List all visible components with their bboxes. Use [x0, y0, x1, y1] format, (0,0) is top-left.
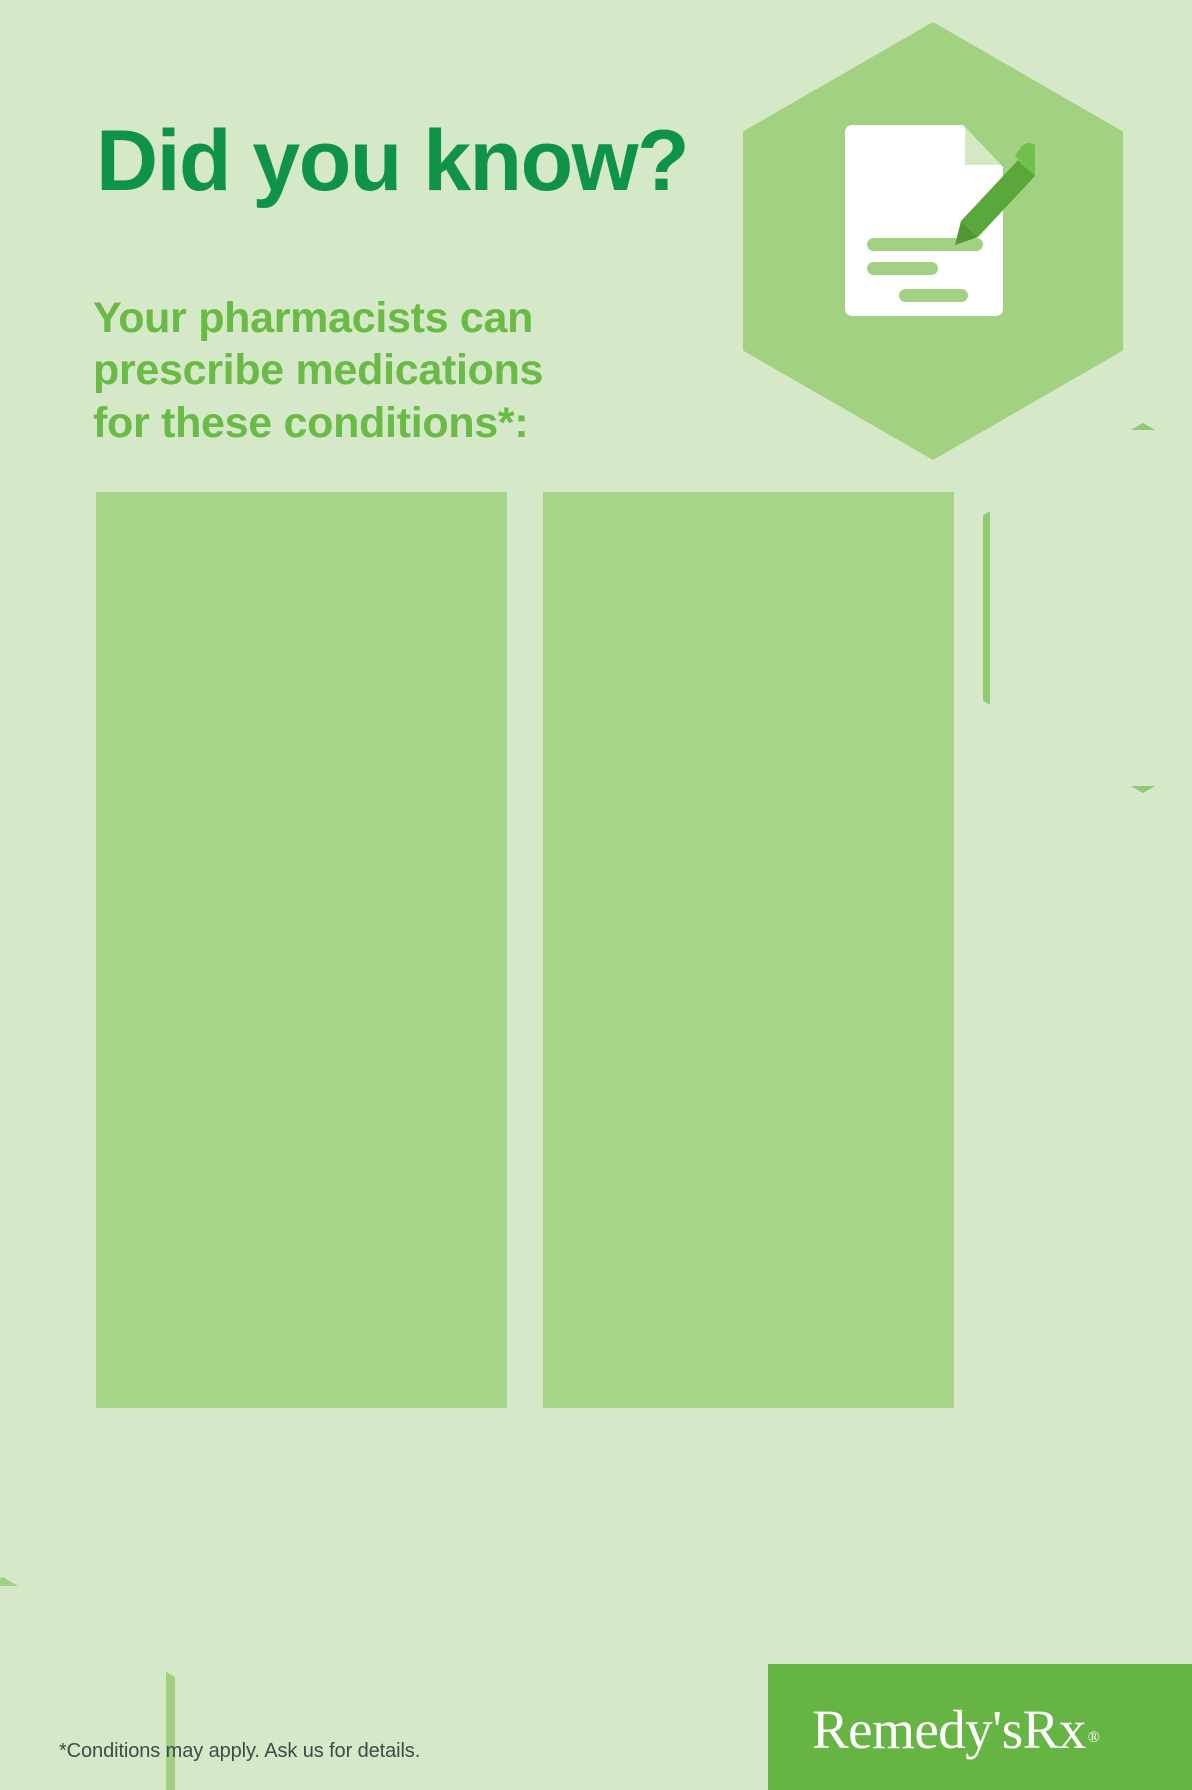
brand-logo: Remedy'sRx® — [812, 1698, 1099, 1761]
page-title: Did you know? — [96, 118, 688, 204]
subheading-line-1: Your pharmacists can — [93, 292, 543, 344]
brand-wordmark: Remedy'sRx — [812, 1699, 1086, 1760]
poster-canvas: Did you know? Your pharmacists can presc… — [0, 0, 1192, 1790]
conditions-panel-right — [543, 492, 954, 1408]
prescription-document-icon — [845, 125, 1035, 325]
conditions-panel-left — [96, 492, 507, 1408]
hexagon-outline-fill-right — [983, 423, 1192, 793]
footnote-text: *Conditions may apply. Ask us for detail… — [59, 1740, 420, 1763]
registered-trademark-icon: ® — [1088, 1729, 1100, 1746]
subheading-line-2: prescribe medications — [93, 344, 543, 396]
subheading: Your pharmacists can prescribe medicatio… — [93, 292, 543, 449]
subheading-line-3: for these conditions*: — [93, 397, 543, 449]
